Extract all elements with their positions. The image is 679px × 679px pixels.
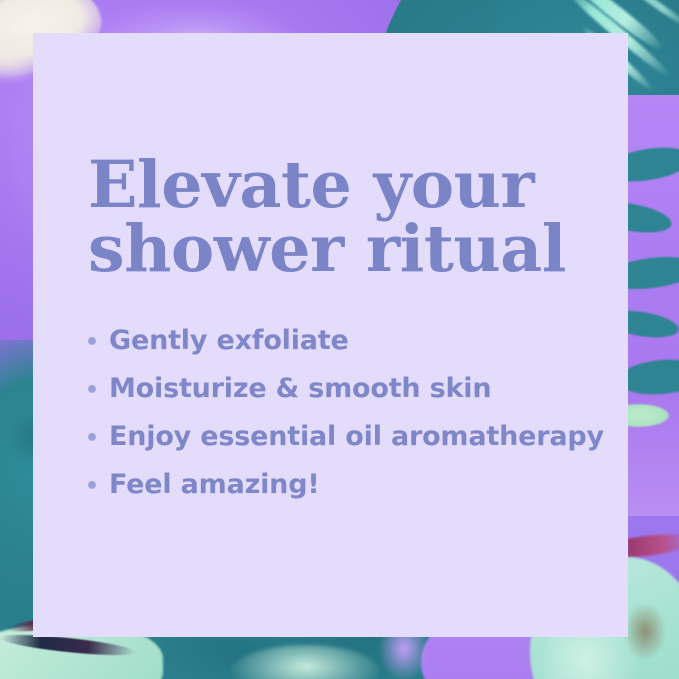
headline-line-2: shower ritual	[88, 217, 608, 281]
khaki-speck-bottom-right	[625, 604, 666, 658]
list-item: • Gently exfoliate	[85, 325, 615, 373]
bullet-dot-icon: •	[85, 332, 109, 354]
list-item-label: Enjoy essential oil aromatherapy	[109, 421, 604, 452]
list-item: • Moisturize & smooth skin	[85, 373, 615, 421]
list-item-label: Feel amazing!	[109, 469, 319, 500]
lavender-content-card: Elevate your shower ritual • Gently exfo…	[33, 33, 628, 637]
headline-line-1: Elevate your	[88, 153, 608, 217]
page-title: Elevate your shower ritual	[88, 153, 608, 282]
list-item-label: Moisturize & smooth skin	[109, 373, 491, 404]
bullet-dot-icon: •	[85, 380, 109, 402]
list-item: • Feel amazing!	[85, 469, 615, 517]
product-lifestyle-poster: Elevate your shower ritual • Gently exfo…	[0, 0, 679, 679]
list-item: • Enjoy essential oil aromatherapy	[85, 421, 615, 469]
bullet-dot-icon: •	[85, 428, 109, 450]
bullet-dot-icon: •	[85, 476, 109, 498]
benefits-list: • Gently exfoliate • Moisturize & smooth…	[85, 325, 615, 517]
list-item-label: Gently exfoliate	[109, 325, 349, 356]
